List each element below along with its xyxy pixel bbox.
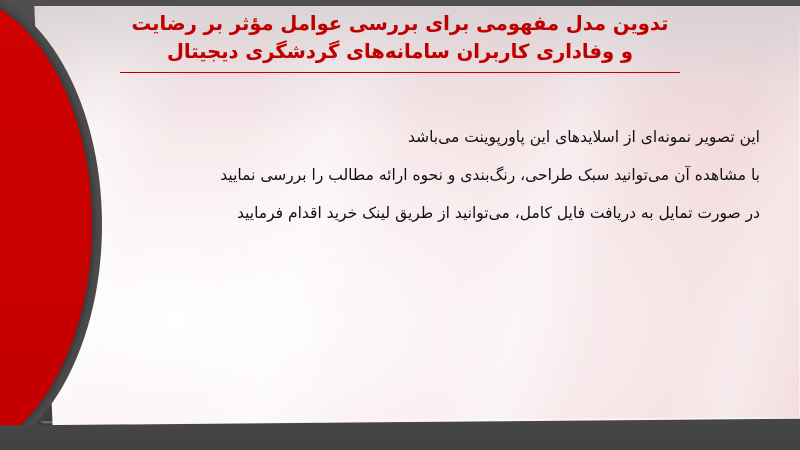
slide-title-line-1: تدوین مدل مفهومی برای بررسی عوامل مؤثر ب… (0, 10, 800, 38)
title-underline-rule (120, 72, 680, 73)
slide-body-line-2: با مشاهده آن می‌توانید سبک طراحی، رنگ‌بن… (60, 156, 760, 194)
slide-title-line-2: و وفاداری کاربران سامانه‌های گردشگری دیج… (0, 38, 800, 66)
slide-body-line-1: این تصویر نمونه‌ای از اسلایدهای این پاور… (60, 118, 760, 156)
slide-title: تدوین مدل مفهومی برای بررسی عوامل مؤثر ب… (0, 10, 800, 73)
slide-body-line-3: در صورت تمایل به دریافت فایل کامل، می‌تو… (60, 194, 760, 232)
slide-body: این تصویر نمونه‌ای از اسلایدهای این پاور… (0, 118, 800, 232)
presentation-slide: تدوین مدل مفهومی برای بررسی عوامل مؤثر ب… (0, 0, 800, 450)
